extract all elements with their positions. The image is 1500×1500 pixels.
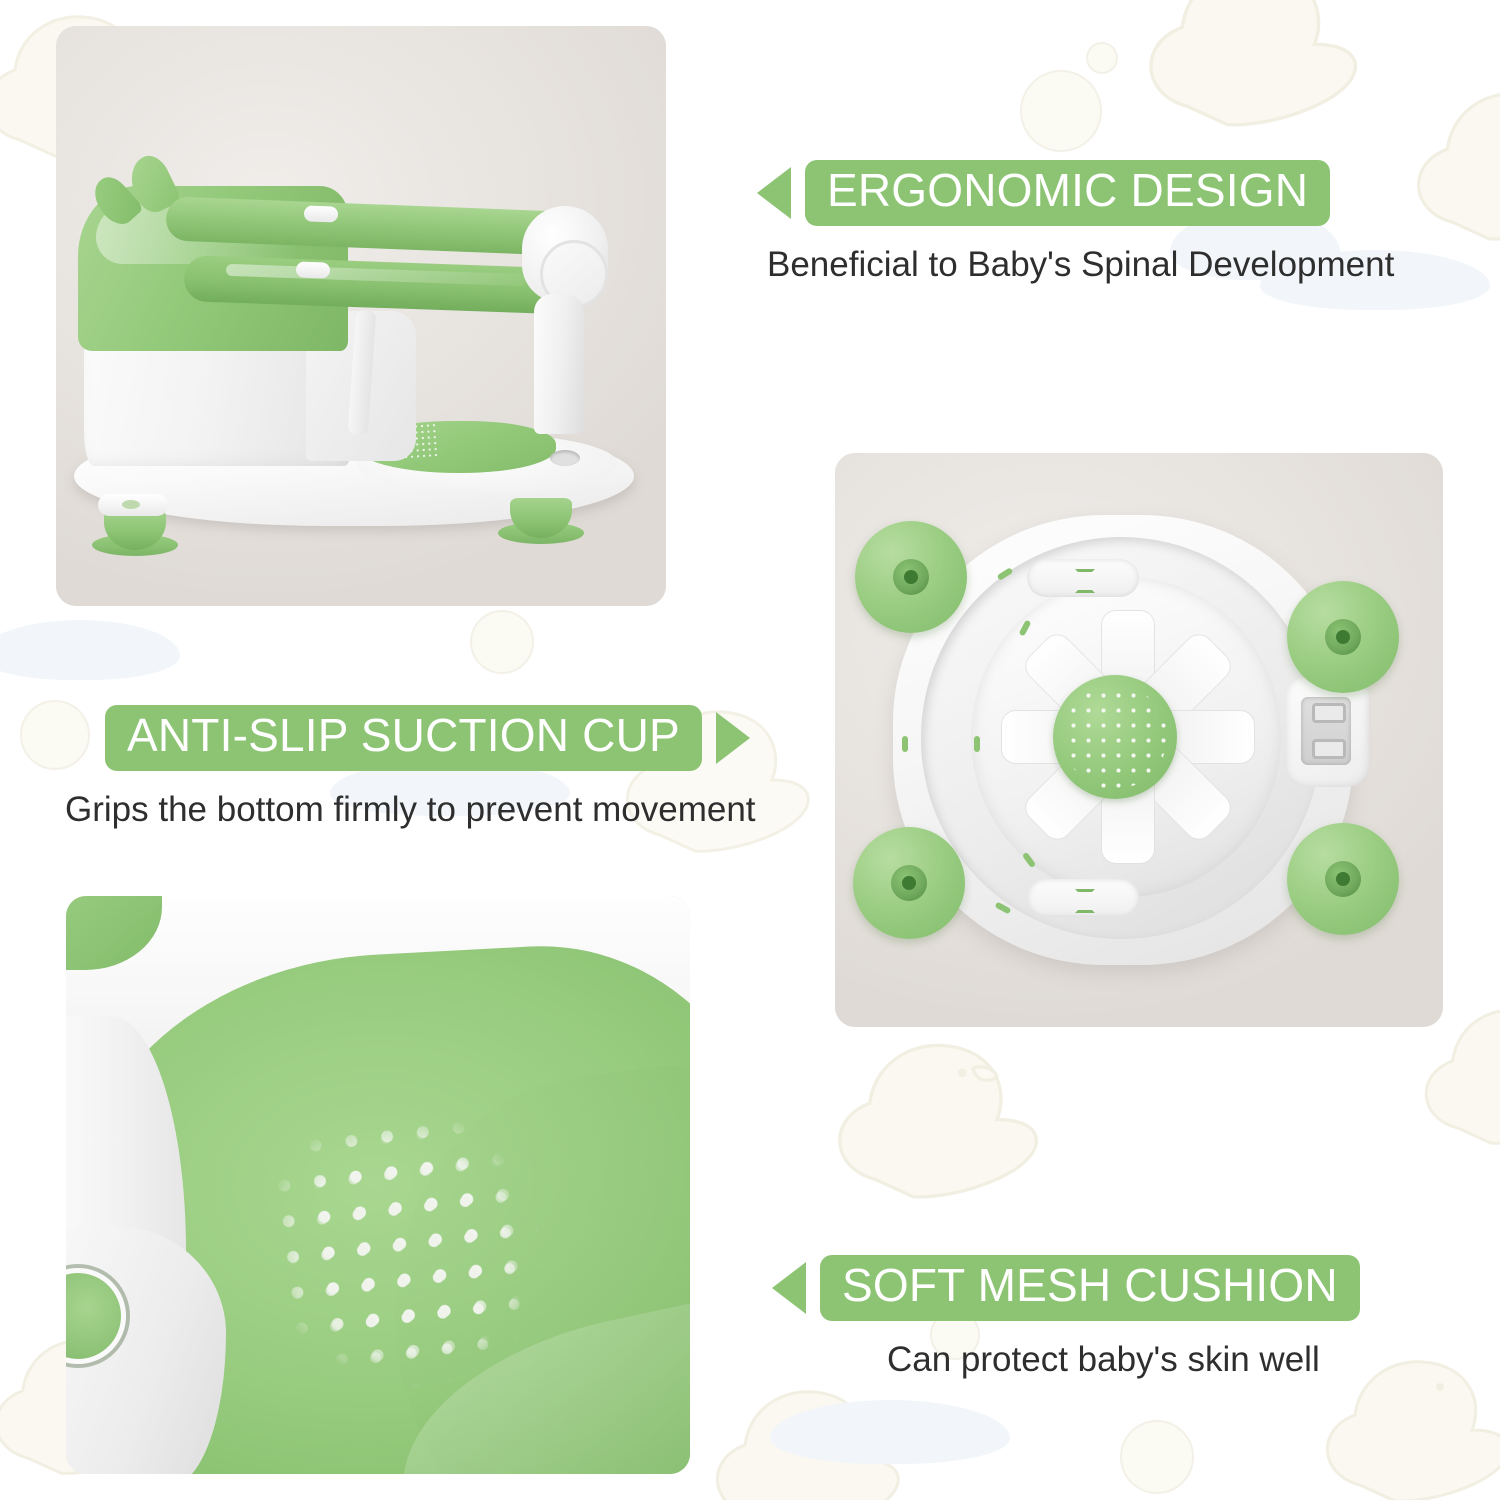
rail-clip [1027,559,1139,597]
bath-seat-bottom-view-photo [835,453,1443,1027]
suction-cup [853,827,965,939]
bubble-watermark-icon [470,610,534,674]
green-tick-marker [974,736,980,752]
hinge-knob [296,261,331,278]
feature-callout-anti-slip-suction-cup: ANTI-SLIP SUCTION CUP Grips the bottom f… [105,705,756,831]
suction-cup-center [1325,619,1361,655]
rail-clip [1027,879,1139,917]
feature-callout-ergonomic-design: ERGONOMIC DESIGN Beneficial to Baby's Sp… [757,160,1394,286]
bubble-watermark-icon [1020,70,1102,152]
suction-cap [98,494,168,516]
suction-cup [1287,823,1399,935]
duck-watermark-icon [810,1010,1060,1240]
triangle-left-icon [772,1262,806,1314]
duck-watermark-icon [1120,0,1380,170]
feature-callout-soft-mesh-cushion: SOFT MESH CUSHION Can protect baby's ski… [772,1255,1360,1381]
backrest-slot-clip [1301,697,1351,765]
feature-subtitle: Beneficial to Baby's Spinal Development [767,244,1394,286]
suction-cup-center [891,865,927,901]
product-illustration [56,26,666,606]
suction-cup-center [893,559,929,595]
badge-row: SOFT MESH CUSHION [772,1255,1360,1321]
water-splash-watermark [0,620,180,680]
bubble-watermark-icon [1086,42,1118,74]
triangle-left-icon [757,167,791,219]
feature-subtitle: Can protect baby's skin well [887,1339,1360,1381]
suction-cup-center [1325,861,1361,897]
duck-watermark-icon [1390,60,1500,280]
feature-subtitle: Grips the bottom firmly to prevent movem… [65,789,756,831]
feature-badge-label: ERGONOMIC DESIGN [805,160,1330,226]
feature-badge-label: SOFT MESH CUSHION [820,1255,1360,1321]
mesh-drain-holes [1063,685,1167,789]
feature-badge-label: ANTI-SLIP SUCTION CUP [105,705,702,771]
bubble-watermark-icon [1120,1420,1194,1494]
pivot-leg [534,294,584,434]
drain-hole [550,450,580,466]
badge-row: ANTI-SLIP SUCTION CUP [105,705,756,771]
triangle-right-icon [716,712,750,764]
bubble-watermark-icon [20,700,90,770]
suction-cup [855,521,967,633]
suction-cup [1287,581,1399,693]
mesh-cushion-closeup-photo [66,896,690,1474]
duck-watermark-icon [690,1360,920,1500]
badge-row: ERGONOMIC DESIGN [757,160,1394,226]
hinge-knob [304,205,339,222]
water-splash-watermark [770,1400,1010,1464]
bath-seat-side-view-photo [56,26,666,606]
green-mesh-drain-disc [1053,675,1177,799]
green-tick-marker [902,736,908,752]
infographic-page: ERGONOMIC DESIGN Beneficial to Baby's Sp… [0,0,1500,1500]
